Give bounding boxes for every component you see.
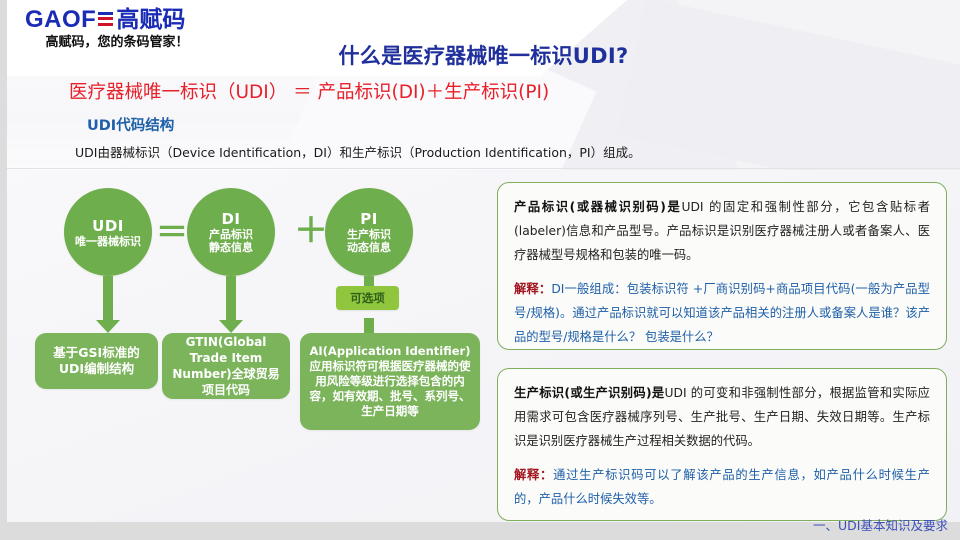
slide-root: GAOF 高赋码 高赋码，您的条码管家！ 什么是医疗器械唯一标识UDI? 医疗器…: [0, 0, 960, 540]
connector-stem-icon: [357, 276, 381, 286]
logo-lockup: GAOF 高赋码: [19, 6, 219, 34]
circle-pi: PI 生产标识 动态信息: [325, 188, 413, 276]
box-application-identifier: AI(Application Identifier)应用标识符可根据医疗器械的使…: [300, 333, 480, 430]
panel-pi-explain-lead: 解释：: [514, 468, 553, 482]
panel-pi-explain-text: 通过生产标识码可以了解该产品的生产信息，如产品什么时候生产的，产品什么时候失效等…: [514, 468, 930, 506]
letterbox-left: [0, 0, 7, 540]
circle-di-sub1: 产品标识: [209, 228, 253, 241]
circle-di: DI 产品标识 静态信息: [187, 188, 275, 276]
panel-di-explain-lead: 解释：: [514, 282, 551, 296]
plus-operator-icon: ＋: [294, 214, 328, 248]
circle-udi-code: UDI: [92, 217, 124, 235]
panel-di-body: 产品标识(或器械识别码)是UDI 的固定和强制性部分，它包含贴标者(labele…: [514, 195, 930, 267]
circle-di-code: DI: [221, 210, 240, 228]
panel-di-term: 产品标识(或器械识别码)是: [514, 200, 681, 214]
page-title: 什么是医疗器械唯一标识UDI?: [7, 40, 960, 70]
arrow-down-icon: [96, 276, 120, 333]
panel-pi-term: 生产标识(或生产识别码)是: [514, 386, 665, 400]
box-gtin: GTIN(Global Trade Item Number)全球贸易项目代码: [162, 333, 290, 399]
optional-badge: 可选项: [336, 286, 399, 310]
circle-udi-sub1: 唯一器械标识: [75, 235, 141, 248]
circle-pi-sub2: 动态信息: [347, 241, 391, 254]
header-divider: [7, 168, 960, 169]
panel-pi-explain: 解释：通过生产标识码可以了解该产品的生产信息，如产品什么时候生产的，产品什么时候…: [514, 463, 930, 511]
section-subhead: UDI代码结构: [87, 114, 174, 135]
panel-di-explain: 解释：DI一般组成：包装标识符 +厂商识别码+商品项目代码(一般为产品型号/规格…: [514, 277, 930, 349]
udi-structure-diagram: UDI 唯一器械标识 ＝ DI 产品标识 静态信息 ＋ PI 生产标识 动态信息: [7, 170, 487, 470]
panel-pi-body: 生产标识(或生产识别码)是UDI 的可变和非强制性部分，根据监管和实际应用需求可…: [514, 381, 930, 453]
circle-pi-sub1: 生产标识: [347, 228, 391, 241]
box-udi-structure: 基于GSI标准的UDI编制结构: [35, 333, 158, 389]
logo-bars-icon: [98, 12, 113, 29]
slide-canvas: GAOF 高赋码 高赋码，您的条码管家！ 什么是医疗器械唯一标识UDI? 医疗器…: [7, 0, 960, 522]
panel-product-identifier: 产品标识(或器械识别码)是UDI 的固定和强制性部分，它包含贴标者(labele…: [497, 182, 947, 350]
udi-formula: 医疗器械唯一标识（UDI） ＝ 产品标识(DI)＋生产标识(PI): [69, 78, 549, 104]
section-description: UDI由器械标识（Device Identification，DI）和生产标识（…: [75, 142, 935, 161]
equals-operator-icon: ＝: [156, 216, 188, 248]
panel-production-identifier: 生产标识(或生产识别码)是UDI 的可变和非强制性部分，根据监管和实际应用需求可…: [497, 368, 947, 521]
arrow-down-icon: [219, 276, 243, 333]
footer-section-label: 一、UDI基本知识及要求: [813, 515, 948, 534]
circle-di-sub2: 静态信息: [209, 241, 253, 254]
circle-pi-code: PI: [360, 210, 378, 228]
logo-chinese-text: 高赋码: [116, 7, 185, 33]
panel-di-explain-text: DI一般组成：包装标识符 +厂商识别码+商品项目代码(一般为产品型号/规格)。通…: [514, 282, 930, 344]
logo-latin-text: GAOF: [25, 7, 96, 33]
circle-udi: UDI 唯一器械标识: [64, 188, 152, 276]
